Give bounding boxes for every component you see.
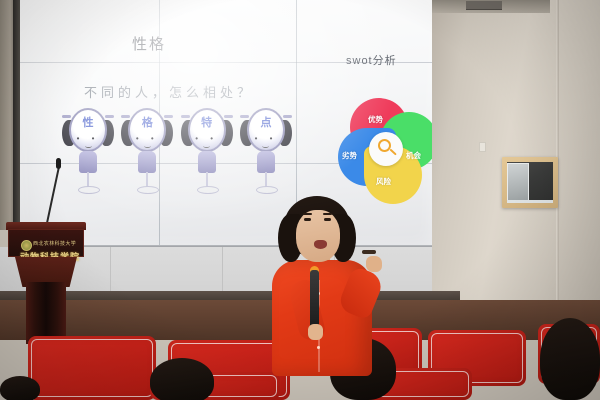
- mirror-figure: 点 • •: [240, 108, 292, 196]
- figure-stem: [146, 172, 148, 187]
- audience-head: [540, 318, 600, 400]
- figure-stem: [206, 172, 208, 187]
- figure-eyes: • •: [190, 134, 224, 143]
- presenter-pointing-hand: [366, 256, 382, 272]
- mirror-face-icon: 特 • •: [188, 108, 226, 152]
- lectern-sign: 西北农林科技大学 动物科技学院: [8, 229, 84, 257]
- audience-head: [0, 376, 40, 400]
- mirror-handle-right: [283, 115, 292, 118]
- magnifier-handle-icon: [389, 149, 397, 156]
- figure-eyes: • •: [249, 134, 283, 143]
- figure-mouth: [85, 144, 92, 148]
- figure-body: [198, 151, 216, 173]
- presenter-eye-left: [304, 218, 311, 221]
- dress-button: [317, 346, 320, 349]
- figure-stem: [265, 172, 267, 187]
- mirror-handle-right: [164, 115, 173, 118]
- mirror-handle-left: [121, 115, 130, 118]
- seat-piping: [31, 339, 153, 397]
- figure-glyph: 性: [71, 114, 105, 130]
- window-frame: [502, 157, 558, 208]
- swot-label-weaknesses: 劣势: [342, 150, 357, 161]
- window-rail: [507, 200, 553, 203]
- gooseneck-microphone-head: [56, 158, 61, 169]
- figure-base: [197, 186, 219, 194]
- figure-body: [79, 151, 97, 173]
- presenter-brow-left: [303, 213, 312, 215]
- presenter-eye-right: [324, 218, 331, 221]
- air-vent-icon: [466, 1, 502, 10]
- character-figure-row: 性 • • 格 • •: [62, 108, 292, 196]
- mirror-face-icon: 性 • •: [69, 108, 107, 152]
- mirror-handle-left: [62, 115, 71, 118]
- mirror-face-icon: 点 • •: [247, 108, 285, 152]
- window-sash[interactable]: [507, 163, 529, 202]
- presenter-brow-right: [323, 213, 332, 215]
- lecture-hall-photo: 性格 不同的人，怎么相处？ 性 • •: [0, 0, 600, 400]
- swot-center-circle: [369, 132, 403, 166]
- figure-body: [257, 151, 275, 173]
- mirror-figure: 性 • •: [62, 108, 114, 196]
- figure-eyes: • •: [130, 134, 164, 143]
- lectern-column: [26, 282, 66, 344]
- presenter: [258, 196, 390, 376]
- slide-subtitle-left: 不同的人，怎么相处？: [84, 82, 254, 101]
- mirror-handle-right: [105, 115, 114, 118]
- swot-diagram: 优势 机会 劣势 风险: [338, 98, 432, 198]
- presenter-face: [296, 210, 340, 262]
- light-switch-icon[interactable]: [479, 142, 486, 152]
- figure-mouth: [262, 144, 269, 148]
- presenter-wristband: [362, 250, 376, 254]
- figure-glyph: 特: [190, 114, 224, 130]
- lectern: 西北农林科技大学 动物科技学院: [6, 222, 86, 342]
- mirror-handle-right: [224, 115, 233, 118]
- slide-title-right: swot分析: [346, 52, 397, 68]
- figure-base: [78, 186, 100, 194]
- swot-label-strengths: 优势: [368, 114, 383, 125]
- handheld-microphone: [310, 270, 319, 328]
- swot-label-threats: 风险: [376, 176, 391, 187]
- figure-base: [256, 186, 278, 194]
- audience-head: [150, 358, 214, 400]
- presenter-hand-holding-mic: [308, 324, 323, 340]
- wall-panel-seam: [222, 247, 223, 291]
- figure-glyph: 点: [249, 114, 283, 130]
- mirror-handle-left: [181, 115, 190, 118]
- slide-title-left: 性格: [132, 33, 166, 54]
- mirror-face-icon: 格 • •: [128, 108, 166, 152]
- window-glass: [507, 162, 553, 203]
- seat: [28, 336, 156, 400]
- wall-panel-seam: [110, 247, 111, 291]
- figure-body: [138, 151, 156, 173]
- figure-mouth: [203, 144, 210, 148]
- figure-glyph: 格: [130, 114, 164, 130]
- mirror-figure: 格 • •: [121, 108, 173, 196]
- mirror-figure: 特 • •: [181, 108, 233, 196]
- presenter-mouth: [314, 240, 327, 249]
- mirror-handle-left: [240, 115, 249, 118]
- swot-label-opportunities: 机会: [406, 150, 421, 161]
- figure-eyes: • •: [71, 134, 105, 143]
- figure-stem: [87, 172, 89, 187]
- lectern-university-name: 西北农林科技大学: [33, 240, 83, 247]
- figure-mouth: [144, 144, 151, 148]
- figure-base: [137, 186, 159, 194]
